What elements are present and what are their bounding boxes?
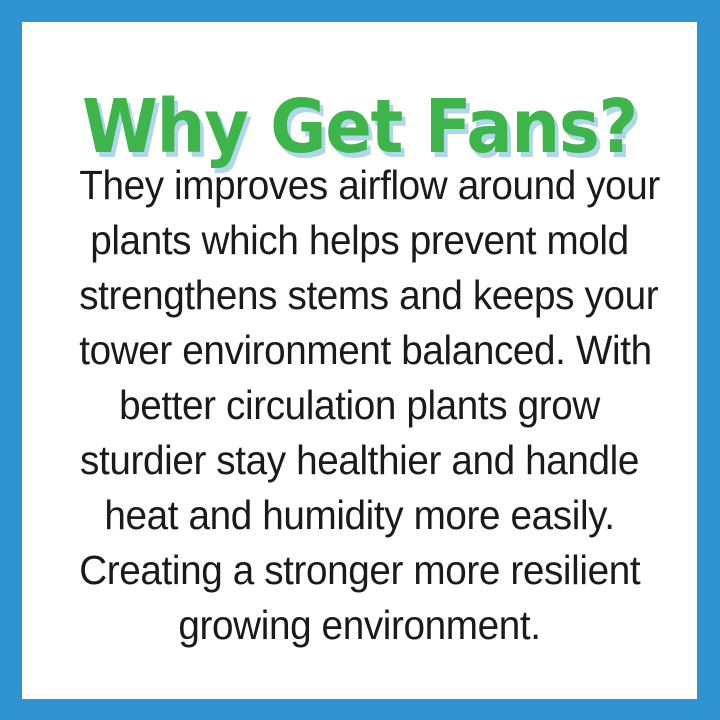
body-line: plants which helps prevent mold: [79, 213, 640, 268]
body-line: Creating a stronger more resilient: [79, 543, 640, 598]
poster-frame: Why Get Fans? They improves airflow arou…: [0, 0, 720, 720]
body-line: tower environment balanced. With: [79, 323, 640, 378]
body-line: heat and humidity more easily.: [79, 488, 640, 543]
body-line: strengthens stems and keeps your: [79, 268, 640, 323]
body-line: better circulation plants grow: [79, 378, 640, 433]
body-line: They improves airflow around your: [79, 158, 640, 213]
body-paragraph: They improves airflow around your plants…: [79, 158, 640, 653]
page-title: Why Get Fans?: [46, 90, 674, 164]
body-line: sturdier stay healthier and handle: [79, 433, 640, 488]
body-line: growing environment.: [79, 598, 640, 653]
poster-card: Why Get Fans? They improves airflow arou…: [22, 22, 697, 699]
